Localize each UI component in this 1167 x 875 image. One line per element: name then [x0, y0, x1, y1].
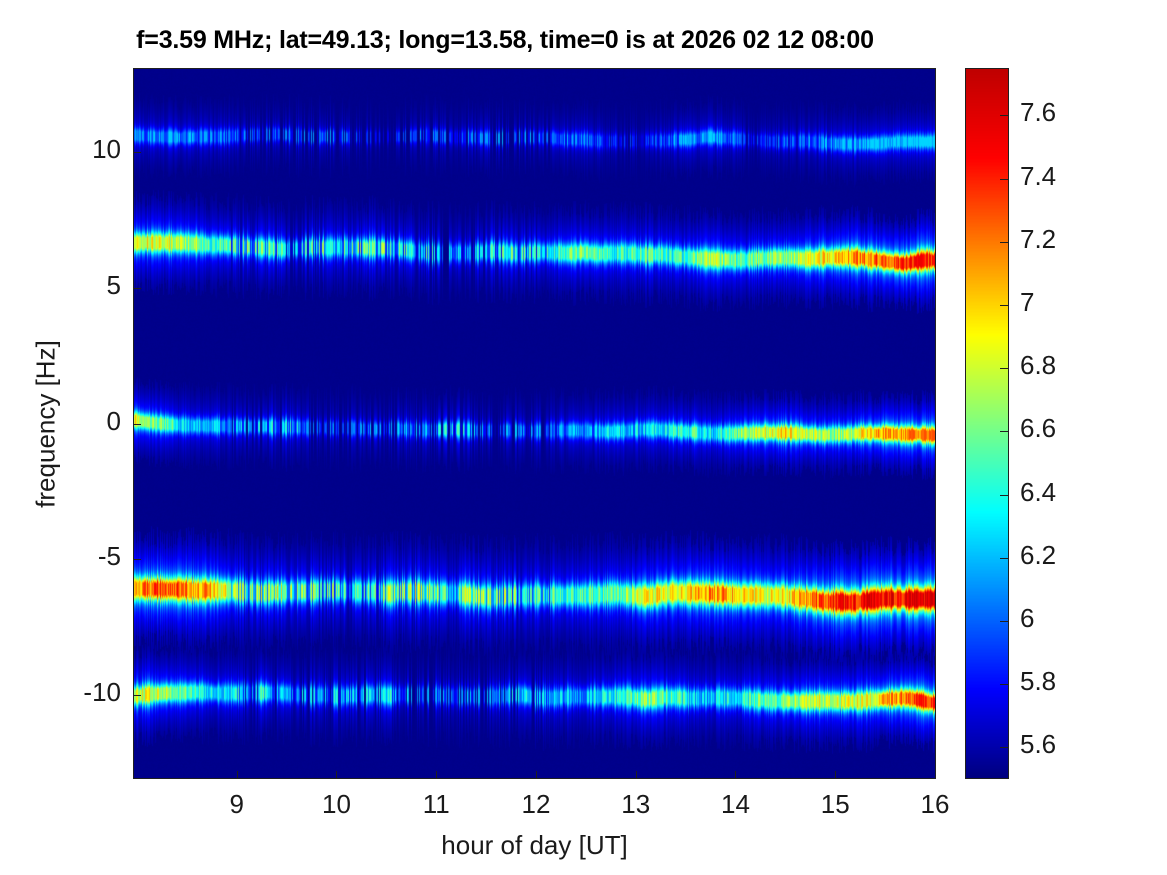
colorbar-tick-label: 7.2 — [1020, 224, 1056, 255]
colorbar-tick — [1000, 368, 1009, 369]
colorbar-tick-label: 7.4 — [1020, 161, 1056, 192]
colorbar-tick-label: 5.8 — [1020, 666, 1056, 697]
colorbar-gradient — [966, 69, 1008, 778]
y-axis-tick — [133, 424, 141, 425]
x-axis-tick-label: 14 — [695, 789, 775, 820]
x-axis-tick-label: 15 — [795, 789, 875, 820]
colorbar-tick-label: 6.2 — [1020, 540, 1056, 571]
colorbar-tick-label: 5.6 — [1020, 729, 1056, 760]
x-axis-tick-label: 13 — [596, 789, 676, 820]
y-axis-tick-label: -10 — [83, 677, 121, 708]
x-axis-tick — [436, 771, 437, 779]
y-axis-tick — [133, 152, 141, 153]
spectrogram-image — [134, 69, 935, 778]
x-axis-tick-label: 12 — [496, 789, 576, 820]
colorbar-tick-label: 6 — [1020, 603, 1034, 634]
spectrogram-figure: f=3.59 MHz; lat=49.13; long=13.58, time=… — [0, 0, 1167, 875]
colorbar-tick — [1000, 747, 1009, 748]
y-axis-tick-label: 0 — [107, 406, 121, 437]
colorbar-tick — [1000, 115, 1009, 116]
colorbar[interactable] — [965, 68, 1009, 779]
x-axis-tick-label: 16 — [895, 789, 975, 820]
x-axis-tick — [636, 771, 637, 779]
plot-area[interactable] — [133, 68, 936, 779]
colorbar-tick — [1000, 179, 1009, 180]
colorbar-tick-label: 7 — [1020, 287, 1034, 318]
x-axis-tick — [735, 771, 736, 779]
y-axis-tick — [133, 288, 141, 289]
colorbar-tick — [1000, 495, 1009, 496]
colorbar-tick — [1000, 621, 1009, 622]
colorbar-tick-label: 6.4 — [1020, 477, 1056, 508]
x-axis-tick-label: 10 — [296, 789, 376, 820]
x-axis-tick — [935, 771, 936, 779]
colorbar-tick — [1000, 305, 1009, 306]
colorbar-tick-label: 6.8 — [1020, 350, 1056, 381]
colorbar-tick — [1000, 558, 1009, 559]
x-axis-tick — [336, 771, 337, 779]
y-axis-tick-label: 5 — [107, 270, 121, 301]
page-title: f=3.59 MHz; lat=49.13; long=13.58, time=… — [0, 26, 1010, 55]
x-axis-tick-label: 11 — [396, 789, 476, 820]
x-axis-tick — [237, 771, 238, 779]
y-axis-tick-label: 10 — [92, 134, 121, 165]
x-axis-label: hour of day [UT] — [133, 830, 936, 861]
y-axis-label: frequency [Hz] — [31, 340, 62, 508]
y-axis-tick — [133, 695, 141, 696]
colorbar-tick-label: 6.6 — [1020, 413, 1056, 444]
colorbar-tick — [1000, 684, 1009, 685]
y-axis-tick — [133, 559, 141, 560]
x-axis-tick-label: 9 — [197, 789, 277, 820]
y-axis-tick-label: -5 — [98, 541, 121, 572]
colorbar-tick-label: 7.6 — [1020, 97, 1056, 128]
colorbar-tick — [1000, 431, 1009, 432]
colorbar-tick — [1000, 242, 1009, 243]
x-axis-tick — [835, 771, 836, 779]
x-axis-tick — [536, 771, 537, 779]
